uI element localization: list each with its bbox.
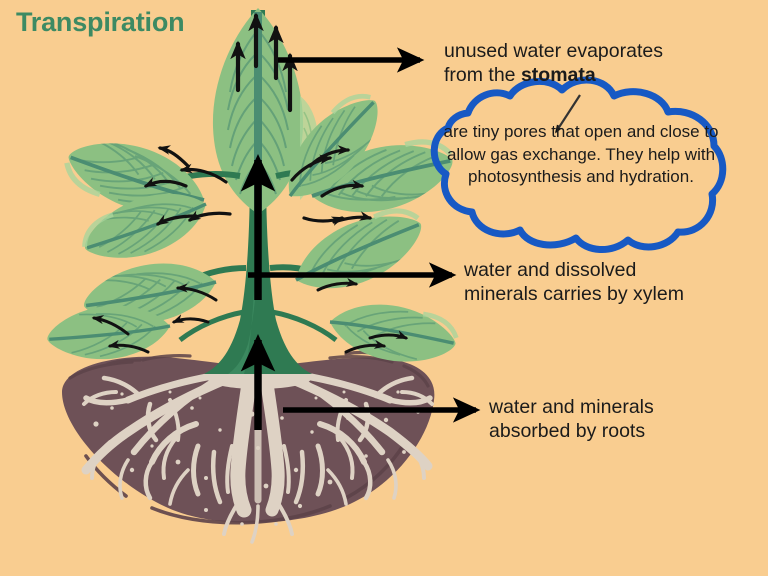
callout-text: are tiny pores that open and close to al…: [441, 121, 721, 189]
label-root-absorption: water and minerals absorbed by roots: [489, 396, 654, 444]
diagram-canvas: Transpiration unused water evaporates fr…: [0, 0, 768, 576]
label-xylem-line1: water and dissolved: [464, 259, 636, 281]
label-stomata-line1: unused water evaporates: [444, 40, 663, 62]
label-stomata-line2-prefix: from the: [444, 64, 521, 86]
label-transpiration-stomata: unused water evaporates from the stomata: [444, 40, 663, 88]
leaf-upper-left: [60, 129, 240, 276]
label-roots-line1: water and minerals: [489, 396, 654, 418]
callout-line1: are tiny pores that open and: [443, 122, 655, 141]
label-stomata-bold-term: stomata: [521, 64, 596, 86]
soil-mound: [62, 353, 434, 543]
label-roots-line2: absorbed by roots: [489, 420, 645, 442]
page-title: Transpiration: [16, 6, 184, 39]
leaf-lower-right: [270, 196, 433, 309]
label-xylem-line2: minerals carries by xylem: [464, 283, 684, 305]
callout-line4: and hydration.: [586, 167, 694, 186]
label-xylem-transport: water and dissolved minerals carries by …: [464, 259, 684, 307]
